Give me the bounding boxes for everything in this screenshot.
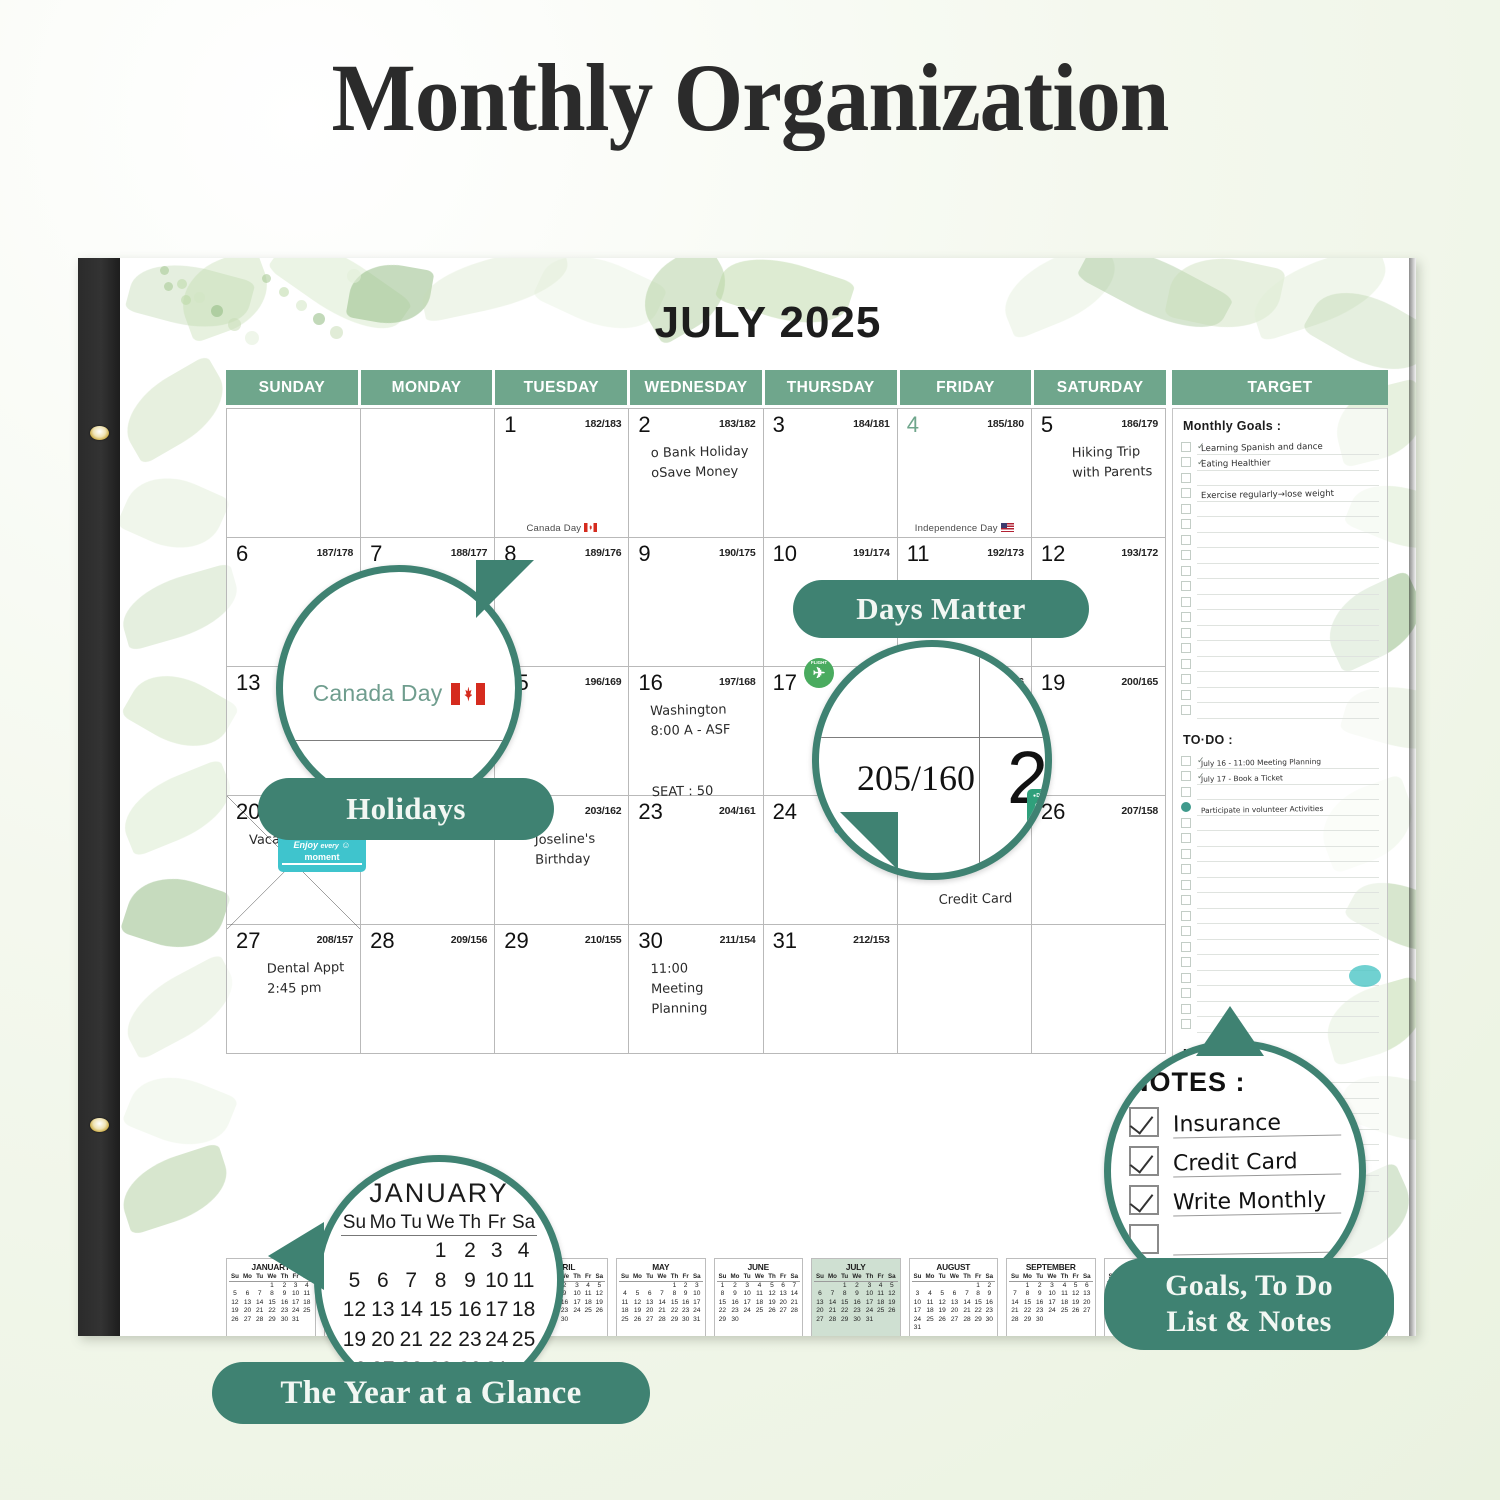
list-item[interactable] — [1181, 877, 1379, 893]
checkbox[interactable] — [1181, 926, 1191, 936]
mini-day: 10 — [864, 1290, 875, 1298]
mini-day: 28 — [826, 1316, 839, 1324]
list-item[interactable] — [1181, 939, 1379, 955]
day-cell-4[interactable]: 4185/180Independence Day — [898, 409, 1032, 538]
mini-weekday: Mo — [923, 1273, 936, 1281]
mini-day: 21 — [254, 1307, 265, 1315]
mini-day: 27 — [778, 1307, 789, 1315]
mini-day: 13 — [1081, 1290, 1092, 1298]
mini-day: 1 — [839, 1281, 850, 1290]
day-cell-30[interactable]: 30211/15411:00Meeting Planning — [629, 925, 763, 1054]
checkbox[interactable] — [1181, 973, 1191, 983]
checkbox-checked-icon[interactable] — [1129, 1185, 1159, 1215]
checkbox[interactable] — [1181, 597, 1191, 607]
mini-day: 26 — [1070, 1307, 1081, 1315]
list-item[interactable] — [1181, 893, 1379, 909]
day-cell-5[interactable]: 5186/179Hiking Tripwith Parents — [1032, 409, 1166, 538]
list-item[interactable] — [1181, 625, 1379, 641]
mini-month-july[interactable]: JULYSuMoTuWeThFrSa1234567891011121314151… — [811, 1258, 901, 1336]
list-item[interactable] — [1181, 784, 1379, 800]
list-item[interactable] — [1181, 908, 1379, 924]
mini-day: 11 — [1059, 1290, 1070, 1298]
mini-month-title: JUNE — [717, 1262, 801, 1272]
mini-day: 11 — [619, 1299, 631, 1307]
checkbox[interactable] — [1181, 690, 1191, 700]
mini-day — [948, 1281, 962, 1290]
mini-day: 14 — [254, 1299, 265, 1307]
mini-day: 3 — [571, 1281, 582, 1290]
mini-day: 29 — [1021, 1316, 1034, 1324]
checkbox-checked-icon[interactable] — [1129, 1107, 1159, 1137]
list-item[interactable] — [1181, 986, 1379, 1002]
mini-weekday: Mo — [241, 1273, 254, 1281]
mini-day: 13 — [368, 1295, 398, 1325]
mini-day — [241, 1281, 254, 1290]
mini-day — [254, 1281, 265, 1290]
list-item[interactable]: Participate in volunteer Activities — [1181, 800, 1379, 816]
magnifier-pointer — [1196, 1006, 1264, 1056]
mini-day: 21 — [961, 1307, 972, 1315]
day-number: 13 — [236, 672, 260, 694]
day-cell-1[interactable]: 1182/183Canada Day — [495, 409, 629, 538]
mini-day: 8 — [1021, 1290, 1034, 1298]
mini-day: 15 — [265, 1299, 279, 1307]
mini-weekday: Th — [571, 1273, 582, 1281]
mini-day — [341, 1236, 368, 1266]
list-item[interactable] — [1181, 831, 1379, 847]
mini-day: 11 — [510, 1266, 537, 1296]
mini-day: 14 — [655, 1299, 669, 1307]
list-item[interactable] — [1181, 862, 1379, 878]
mini-day: 10 — [912, 1299, 924, 1307]
checkbox[interactable] — [1181, 818, 1191, 828]
mini-day: 24 — [1045, 1307, 1059, 1315]
day-number: 11 — [907, 543, 930, 565]
mini-month-title: SEPTEMBER — [1009, 1262, 1093, 1272]
page-title: Monthly Organization — [53, 42, 1448, 153]
list-item[interactable] — [1181, 532, 1379, 548]
day-number: 9 — [638, 543, 650, 565]
mini-day: 14 — [398, 1295, 425, 1325]
mini-month-table: SuMoTuWeThFrSa12345678910111213141516171… — [717, 1273, 801, 1324]
us-flag-icon — [1001, 523, 1014, 532]
mini-day: 7 — [826, 1290, 839, 1298]
handwritten-note: 11:00Meeting Planning — [651, 958, 755, 1021]
checkbox[interactable] — [1181, 628, 1191, 638]
mini-day: 15 — [669, 1299, 680, 1307]
mini-day: 17 — [571, 1299, 582, 1307]
mini-day: 18 — [1059, 1299, 1070, 1307]
mini-day: 30 — [728, 1316, 741, 1324]
mini-day — [984, 1324, 995, 1332]
mini-day — [973, 1324, 984, 1332]
mini-day: 25 — [583, 1307, 594, 1315]
checkbox-checked-icon[interactable] — [1129, 1146, 1159, 1176]
mini-month-may[interactable]: MAYSuMoTuWeThFrSa12345678910111213141516… — [616, 1258, 706, 1336]
mini-day: 27 — [814, 1316, 826, 1324]
mini-day: 26 — [886, 1307, 897, 1315]
mini-weekday: Sa — [594, 1273, 605, 1281]
day-cell-empty[interactable] — [1032, 925, 1166, 1054]
mini-day: 8 — [669, 1290, 680, 1298]
mini-weekday: Fr — [680, 1273, 691, 1281]
checkbox[interactable] — [1181, 988, 1191, 998]
mini-day: 25 — [923, 1316, 936, 1324]
checkbox[interactable] — [1181, 473, 1191, 483]
mini-weekday: Th — [457, 1211, 484, 1236]
day-cell-27[interactable]: 27208/157Dental Appt 2:45 pm — [227, 925, 361, 1054]
mini-weekday: Sa — [691, 1273, 702, 1281]
mini-day: 19 — [766, 1299, 777, 1307]
mini-day — [1009, 1281, 1021, 1290]
mini-day: 10 — [1045, 1290, 1059, 1298]
weekday-header-sunday: SUNDAY — [226, 370, 358, 405]
list-item[interactable] — [1181, 955, 1379, 971]
day-cell-19[interactable]: 19200/165 — [1032, 667, 1166, 796]
mini-weekday: Mo — [728, 1273, 741, 1281]
checkbox[interactable] — [1181, 659, 1191, 669]
mini-day: 23 — [457, 1325, 484, 1355]
day-cell-31[interactable]: 31212/153 — [764, 925, 898, 1054]
notes-item-label: Credit Card — [1173, 1149, 1341, 1178]
mini-day: 18 — [619, 1307, 631, 1315]
mini-day: 23 — [984, 1307, 995, 1315]
list-item[interactable]: ✓Learning Spanish and dance — [1181, 439, 1379, 455]
day-countdown: 209/156 — [451, 934, 488, 946]
handwritten-note: Joseline's Birthday — [535, 829, 621, 871]
mini-month-table: SuMoTuWeThFrSa12345678910111213141516171… — [1009, 1273, 1093, 1324]
day-number: 10 — [773, 543, 797, 565]
notes-item[interactable]: Write Monthly — [1129, 1185, 1341, 1215]
mini-weekday: Th — [766, 1273, 777, 1281]
checkbox[interactable] — [1181, 566, 1191, 576]
mini-day: 12 — [631, 1299, 644, 1307]
mini-day: 12 — [341, 1295, 368, 1325]
list-item[interactable] — [1181, 687, 1379, 703]
checkbox[interactable] — [1181, 880, 1191, 890]
mini-day — [583, 1316, 594, 1324]
notes-item-label: Write Monthly — [1173, 1188, 1341, 1217]
checkbox[interactable] — [1181, 705, 1191, 715]
mini-day: 26 — [631, 1316, 644, 1324]
days-matter-count: 205/160 — [857, 757, 975, 799]
day-cell-9[interactable]: 9190/175 — [629, 538, 763, 667]
mini-day: 10 — [742, 1290, 753, 1298]
list-item[interactable] — [1181, 517, 1379, 533]
checkbox[interactable] — [1181, 504, 1191, 514]
checkbox[interactable] — [1181, 442, 1191, 452]
day-cell-23[interactable]: 23204/161 — [629, 796, 763, 925]
checkbox[interactable] — [1181, 787, 1191, 797]
mini-day: 26 — [766, 1307, 777, 1315]
mini-weekday: Su — [912, 1273, 924, 1281]
mini-day: 18 — [510, 1295, 537, 1325]
checkbox[interactable] — [1181, 942, 1191, 952]
list-item[interactable]: Exercise regularly→lose weight — [1181, 486, 1379, 502]
checkbox[interactable] — [1181, 864, 1191, 874]
mini-weekday: Tu — [644, 1273, 655, 1281]
list-item[interactable] — [1181, 924, 1379, 940]
mini-day: 23 — [279, 1307, 290, 1315]
mini-weekday: Mo — [368, 1211, 398, 1236]
list-item[interactable] — [1181, 610, 1379, 626]
mini-weekday: Fr — [483, 1211, 510, 1236]
checkbox[interactable] — [1181, 771, 1191, 781]
list-item[interactable] — [1181, 815, 1379, 831]
mini-day: 30 — [558, 1316, 572, 1324]
day-countdown: 207/158 — [1121, 805, 1158, 817]
mini-day: 29 — [265, 1316, 279, 1324]
mini-day: 30 — [984, 1316, 995, 1324]
list-item[interactable] — [1181, 656, 1379, 672]
mini-day: 2 — [850, 1281, 864, 1290]
list-item[interactable] — [1181, 548, 1379, 564]
mini-day: 27 — [241, 1316, 254, 1324]
checkbox[interactable] — [1181, 957, 1191, 967]
day-cell-26[interactable]: 26207/158 — [1032, 796, 1166, 925]
checkbox[interactable] — [1181, 457, 1191, 467]
checkbox[interactable] — [1181, 1019, 1191, 1029]
mini-month-august[interactable]: AUGUSTSuMoTuWeThFrSa12345678910111213141… — [909, 1258, 999, 1336]
mini-day: 3 — [742, 1281, 753, 1290]
list-item[interactable] — [1181, 501, 1379, 517]
mini-weekday: Tu — [398, 1211, 425, 1236]
checkbox[interactable] — [1181, 519, 1191, 529]
day-cell-empty[interactable] — [227, 409, 361, 538]
day-countdown: 187/178 — [317, 547, 354, 559]
mini-day: 24 — [571, 1307, 582, 1315]
day-cell-empty[interactable] — [898, 925, 1032, 1054]
mini-day: 17 — [1045, 1299, 1059, 1307]
list-item-label: Eating Healthier — [1201, 458, 1271, 469]
checkbox[interactable] — [1181, 1004, 1191, 1014]
mini-day: 27 — [948, 1316, 962, 1324]
day-countdown: 191/174 — [853, 547, 890, 559]
mini-day: 6 — [814, 1290, 826, 1298]
mini-day — [814, 1281, 826, 1290]
checkbox[interactable] — [1181, 756, 1191, 766]
mini-day — [778, 1316, 789, 1324]
checkbox-icon[interactable] — [1129, 1224, 1159, 1254]
list-item[interactable] — [1181, 672, 1379, 688]
mini-day: 26 — [229, 1316, 241, 1324]
mini-day: 22 — [973, 1307, 984, 1315]
day-countdown: 190/175 — [719, 547, 756, 559]
mini-day — [301, 1316, 312, 1324]
day-number: 31 — [773, 930, 797, 952]
mini-weekday: Mo — [826, 1273, 839, 1281]
mini-day: 25 — [875, 1307, 886, 1315]
mini-weekday: Tu — [1034, 1273, 1045, 1281]
day-number: 29 — [504, 930, 528, 952]
mini-weekday: We — [948, 1273, 962, 1281]
mini-month-september[interactable]: SEPTEMBERSuMoTuWeThFrSa12345678910111213… — [1006, 1258, 1096, 1336]
list-item[interactable] — [1181, 594, 1379, 610]
mini-day: 23 — [728, 1307, 741, 1315]
weekday-header-wednesday: WEDNESDAY — [630, 370, 762, 405]
grommet-icon — [90, 1118, 109, 1132]
checkbox[interactable] — [1181, 895, 1191, 905]
mini-day: 31 — [864, 1316, 875, 1324]
mini-day: 7 — [961, 1290, 972, 1298]
list-item[interactable]: ✓Eating Healthier — [1181, 455, 1379, 471]
list-item[interactable] — [1181, 641, 1379, 657]
mini-day: 20 — [814, 1307, 826, 1315]
mini-weekday: Su — [814, 1273, 826, 1281]
day-number: 7 — [370, 543, 382, 565]
list-item[interactable] — [1181, 563, 1379, 579]
mini-day — [912, 1281, 924, 1290]
mini-day: 19 — [594, 1299, 605, 1307]
day-number: 1 — [504, 414, 516, 436]
mini-day: 20 — [368, 1325, 398, 1355]
mini-day: 19 — [937, 1307, 948, 1315]
mini-day — [594, 1316, 605, 1324]
list-item[interactable] — [1181, 846, 1379, 862]
checkbox[interactable] — [1181, 911, 1191, 921]
mini-day — [766, 1316, 777, 1324]
list-item[interactable] — [1181, 579, 1379, 595]
mini-day: 7 — [398, 1266, 425, 1296]
checkbox[interactable] — [1181, 833, 1191, 843]
mini-day: 1 — [717, 1281, 729, 1290]
day-cell-2[interactable]: 2183/182o Bank HolidayoSave Money — [629, 409, 763, 538]
mini-month-table: SuMoTuWeThFrSa12345678910111213141516171… — [912, 1273, 996, 1333]
mini-day: 5 — [886, 1281, 897, 1290]
mini-day: 24 — [691, 1307, 702, 1315]
mini-day — [961, 1281, 972, 1290]
list-item[interactable]: ✓July 17 - Book a Ticket — [1181, 769, 1379, 785]
mini-day: 20 — [644, 1307, 655, 1315]
day-number: 24 — [773, 801, 797, 823]
mini-day: 19 — [1070, 1299, 1081, 1307]
list-item-label: July 17 - Book a Ticket — [1201, 773, 1283, 783]
day-number: 3 — [773, 414, 785, 436]
handwritten-note: o Bank HolidayoSave Money — [651, 442, 755, 484]
checkbox[interactable] — [1181, 849, 1191, 859]
checkbox-filled[interactable] — [1181, 802, 1191, 812]
mini-day: 15 — [717, 1299, 729, 1307]
list-item[interactable] — [1181, 703, 1379, 719]
day-countdown: 208/157 — [317, 934, 354, 946]
mini-day: 10 — [571, 1290, 582, 1298]
mini-day: 10 — [483, 1266, 510, 1296]
mini-day — [923, 1281, 936, 1290]
mini-day: 22 — [717, 1307, 729, 1315]
list-item-label: Participate in volunteer Activities — [1201, 803, 1323, 814]
mini-day: 18 — [753, 1299, 767, 1307]
mini-day: 24 — [483, 1325, 510, 1355]
day-cell-28[interactable]: 28209/156 — [361, 925, 495, 1054]
checkbox[interactable] — [1181, 550, 1191, 560]
day-countdown: 188/177 — [451, 547, 488, 559]
notes-item[interactable] — [1129, 1224, 1341, 1254]
mini-day: 16 — [1034, 1299, 1045, 1307]
day-countdown: 185/180 — [987, 418, 1024, 430]
mini-day: 28 — [254, 1316, 265, 1324]
mini-day: 11 — [583, 1290, 594, 1298]
target-header: TARGET — [1172, 370, 1388, 405]
callout-goals-todo-notes: Goals, To Do List & Notes — [1104, 1258, 1394, 1350]
mini-day: 5 — [594, 1281, 605, 1290]
mini-weekday: We — [425, 1211, 457, 1236]
day-cell-3[interactable]: 3184/181 — [764, 409, 898, 538]
mini-day — [644, 1281, 655, 1290]
monthly-goals-title: Monthly Goals : — [1183, 419, 1379, 433]
mini-day: 4 — [875, 1281, 886, 1290]
mini-day: 27 — [644, 1316, 655, 1324]
day-countdown: 211/154 — [720, 934, 756, 946]
mini-day: 21 — [655, 1307, 669, 1315]
mini-month-table: SuMoTuWeThFrSa12345678910111213141516171… — [341, 1211, 537, 1385]
mini-day — [961, 1324, 972, 1332]
mini-day — [826, 1281, 839, 1290]
mini-day: 15 — [839, 1299, 850, 1307]
mini-day: 13 — [644, 1299, 655, 1307]
holiday-label: Canada Day — [495, 523, 628, 534]
mini-day: 22 — [839, 1307, 850, 1315]
todo-title: TO·DO : — [1183, 733, 1379, 747]
mini-weekday: We — [850, 1273, 864, 1281]
checkbox[interactable] — [1181, 643, 1191, 653]
mini-weekday: Sa — [1081, 1273, 1092, 1281]
day-cell-16[interactable]: 16197/168Washington8:00 A - ASFSEAT : 50 — [629, 667, 763, 796]
mini-weekday: Th — [864, 1273, 875, 1281]
mini-day: 5 — [1070, 1281, 1081, 1290]
holiday-label: Independence Day — [898, 523, 1031, 534]
checkbox[interactable] — [1181, 612, 1191, 622]
notes-item[interactable]: Insurance — [1129, 1107, 1341, 1137]
mini-day: 12 — [886, 1290, 897, 1298]
mini-day: 20 — [778, 1299, 789, 1307]
day-countdown: 192/173 — [987, 547, 1024, 559]
mini-day: 30 — [850, 1316, 864, 1324]
notes-item[interactable]: Credit Card — [1129, 1146, 1341, 1176]
mini-day: 22 — [265, 1307, 279, 1315]
mini-day — [875, 1316, 886, 1324]
day-countdown: 186/179 — [1121, 418, 1158, 430]
mini-weekday: We — [1045, 1273, 1059, 1281]
day-cell-29[interactable]: 29210/155 — [495, 925, 629, 1054]
day-countdown: 182/183 — [585, 418, 622, 430]
calendar-week-row: 1182/183Canada Day2183/182o Bank Holiday… — [227, 409, 1166, 538]
mini-day: 21 — [826, 1307, 839, 1315]
mini-day: 29 — [839, 1316, 850, 1324]
mini-day: 4 — [1059, 1281, 1070, 1290]
mini-day: 2 — [680, 1281, 691, 1290]
checkbox[interactable] — [1181, 674, 1191, 684]
mini-day: 31 — [691, 1316, 702, 1324]
list-item[interactable]: ✓July 16 - 11:00 Meeting Planning — [1181, 753, 1379, 769]
mini-day: 12 — [766, 1290, 777, 1298]
mini-day: 19 — [631, 1307, 644, 1315]
list-item[interactable] — [1181, 470, 1379, 486]
mini-month-june[interactable]: JUNESuMoTuWeThFrSa1234567891011121314151… — [714, 1258, 804, 1336]
mini-day: 25 — [619, 1316, 631, 1324]
mini-day: 30 — [680, 1316, 691, 1324]
mini-day: 19 — [886, 1299, 897, 1307]
grommet-icon — [90, 426, 109, 440]
checkbox[interactable] — [1181, 581, 1191, 591]
mini-day: 20 — [241, 1307, 254, 1315]
day-number: 28 — [370, 930, 394, 952]
mini-day: 30 — [1034, 1316, 1045, 1324]
checkbox[interactable] — [1181, 488, 1191, 498]
mini-day — [1081, 1316, 1092, 1324]
checkbox[interactable] — [1181, 535, 1191, 545]
day-countdown: 193/172 — [1121, 547, 1158, 559]
day-cell-empty[interactable] — [361, 409, 495, 538]
